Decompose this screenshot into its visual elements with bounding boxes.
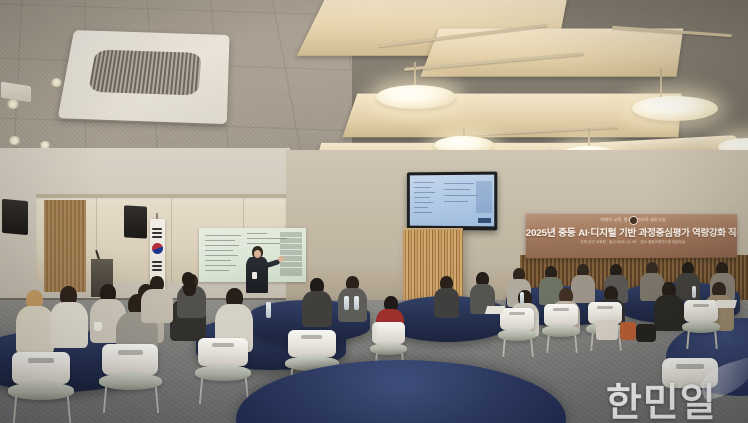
chair-handle-slot bbox=[553, 308, 569, 311]
wall-speaker bbox=[2, 199, 28, 235]
tv-text-line bbox=[444, 195, 477, 196]
paper-cup bbox=[94, 322, 102, 331]
pendant-light bbox=[376, 85, 456, 109]
banner-subtitle: 주최·주관 교육청 · 일시 2025. 11. 00. · 장소 중등교원연수… bbox=[526, 240, 737, 245]
chair-seat bbox=[195, 365, 251, 381]
tv-text-line bbox=[414, 182, 434, 183]
tv-text-line bbox=[414, 207, 428, 208]
blind-seam bbox=[171, 196, 172, 282]
downlight-icon bbox=[50, 78, 63, 87]
slide-table-row bbox=[280, 249, 302, 250]
chair[interactable] bbox=[372, 322, 405, 344]
tv-text-line bbox=[414, 212, 432, 213]
document-paper bbox=[715, 300, 737, 308]
chair-handle-slot bbox=[301, 335, 322, 339]
slide-text-line bbox=[205, 240, 235, 241]
water-bottle bbox=[266, 302, 271, 318]
attendee-body bbox=[50, 302, 88, 348]
chair-handle-slot bbox=[676, 364, 704, 369]
attendee-body bbox=[16, 306, 54, 354]
flag-trigram bbox=[152, 265, 162, 267]
attendee-body bbox=[434, 288, 459, 318]
water-bottle bbox=[692, 286, 696, 298]
flag-trigram bbox=[152, 228, 162, 230]
chair[interactable] bbox=[12, 352, 70, 384]
air-vent-grille-icon bbox=[88, 50, 201, 96]
chair-handle-slot bbox=[118, 350, 143, 355]
chair-seat bbox=[99, 373, 162, 390]
taegeuk-icon bbox=[152, 243, 163, 254]
chair-handle-slot bbox=[597, 306, 613, 309]
presenter-body bbox=[246, 257, 268, 293]
slide-table-row bbox=[280, 255, 302, 256]
tv-text-line bbox=[414, 187, 431, 188]
tv-text-line bbox=[444, 201, 468, 202]
wall-speaker bbox=[124, 205, 147, 238]
handbag bbox=[620, 322, 636, 340]
emblem-icon bbox=[629, 216, 638, 225]
slide-text-line bbox=[205, 270, 229, 271]
blind-headrail bbox=[36, 194, 286, 198]
downlight-icon bbox=[8, 136, 21, 145]
backpack bbox=[636, 324, 656, 342]
slide-table-row bbox=[280, 261, 302, 262]
chair-handle-slot bbox=[693, 304, 709, 307]
slide-text-line bbox=[247, 243, 283, 244]
chair-handle-slot bbox=[509, 312, 525, 315]
slide-text-line bbox=[205, 235, 241, 236]
flag-trigram bbox=[152, 232, 162, 234]
slide-text-line bbox=[205, 250, 233, 251]
slide-table-block bbox=[280, 232, 302, 276]
slide-text-line bbox=[205, 260, 231, 261]
slide-text-line bbox=[205, 265, 236, 266]
conference-room-photo: 미래의 교육, 평가 혁신으로 새로고침 2025년 중등 AI·디지털 기반 … bbox=[0, 0, 748, 423]
water-bottle bbox=[354, 296, 359, 310]
pendant-light bbox=[632, 96, 718, 121]
downlight-icon bbox=[6, 99, 20, 109]
flag-trigram bbox=[152, 261, 162, 263]
attendee-head bbox=[183, 281, 196, 296]
water-bottle bbox=[520, 292, 524, 304]
attendee-body bbox=[571, 275, 595, 303]
attendee-body bbox=[654, 295, 684, 331]
slide-text-line bbox=[205, 245, 239, 246]
presenter-hand bbox=[278, 256, 284, 262]
slide-table-row bbox=[280, 237, 302, 238]
slide-table-row bbox=[280, 267, 302, 268]
tv-text-line bbox=[444, 189, 470, 190]
attendee-body bbox=[302, 291, 332, 327]
tv-logo-block bbox=[478, 218, 491, 223]
presenter-name-badge bbox=[252, 272, 257, 279]
tv-text-line bbox=[444, 183, 474, 184]
document-paper bbox=[485, 306, 505, 314]
tv-text-line bbox=[414, 192, 435, 193]
handbag bbox=[596, 320, 618, 340]
watermark-logo: 한민일보 bbox=[606, 372, 748, 423]
slide-table-row bbox=[280, 243, 302, 244]
banner-title: 2025년 중등 AI·디지털 기반 과정중심평가 역량강화 직무연수 bbox=[526, 225, 737, 239]
flag-trigram bbox=[152, 269, 162, 271]
pendant-stem bbox=[660, 68, 662, 98]
attendee-body bbox=[141, 289, 173, 323]
presenter-face bbox=[254, 250, 261, 258]
tv-text-line bbox=[414, 202, 433, 203]
attendee-body bbox=[338, 288, 367, 322]
chair-seat bbox=[8, 382, 74, 400]
chair-handle-slot bbox=[212, 343, 234, 347]
wood-wall-panel-left bbox=[44, 200, 86, 292]
chair[interactable] bbox=[102, 344, 158, 375]
water-bottle bbox=[344, 296, 349, 310]
slide-text-line bbox=[205, 255, 238, 256]
slide-text-line bbox=[247, 233, 267, 234]
tv-text-line bbox=[414, 197, 430, 198]
tv-highlight-block bbox=[476, 181, 492, 213]
flag-trigram bbox=[152, 236, 162, 238]
chair-handle-slot bbox=[28, 358, 54, 363]
